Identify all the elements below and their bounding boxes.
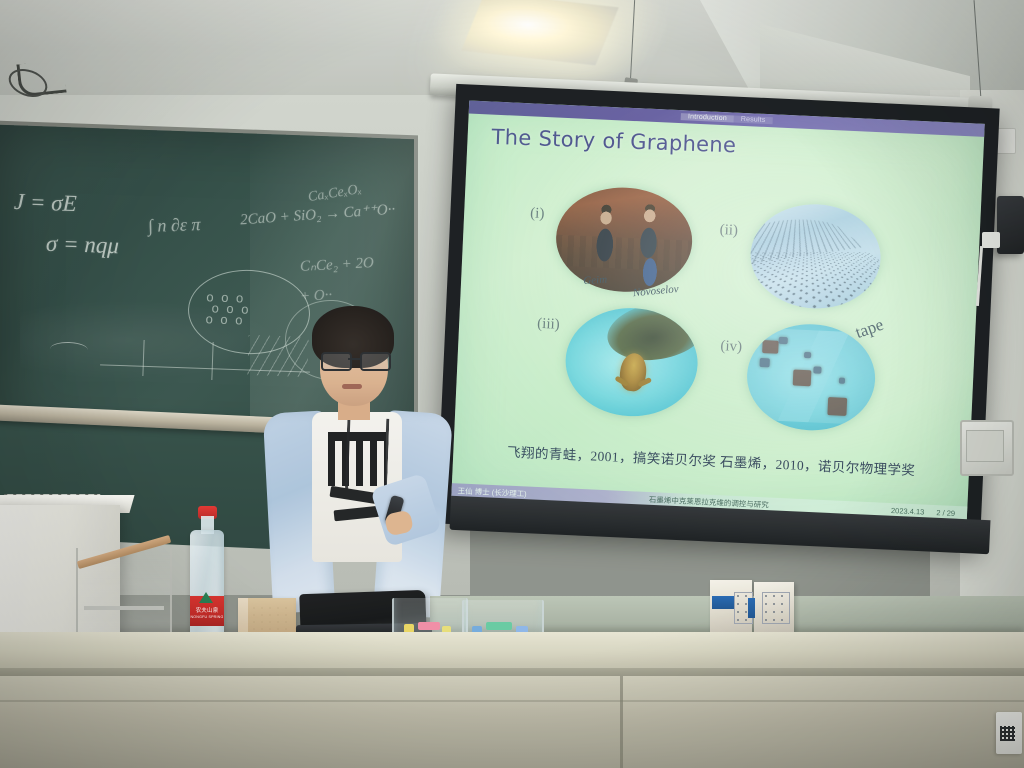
figure-number-iii: (iii): [537, 316, 560, 334]
bottle-label-text: 农夫山泉 NONGFU SPRING: [190, 608, 224, 620]
figure-graphene-lattice: [748, 201, 883, 311]
sample-chip: [418, 622, 440, 630]
figure-number-ii: (ii): [719, 222, 738, 240]
figure-number-i: (i): [530, 205, 545, 223]
label-geim: Geim: [583, 274, 607, 287]
slide-nav-tab-introduction[interactable]: Introduction: [681, 113, 734, 122]
sample-box-grid-2: [762, 592, 790, 624]
bench-body: [0, 676, 1024, 768]
graphite-flake: [760, 358, 770, 367]
bottle-brand-cn: 农夫山泉: [196, 608, 219, 614]
slide-caption: 飞翔的青蛙，2001，搞笑诺贝尔奖 石墨烯，2010，诺贝尔物理学奖: [453, 438, 969, 481]
label-tape: tape: [853, 315, 886, 343]
sample-box-spine: [748, 598, 755, 618]
glasses-icon: [320, 352, 390, 367]
chalk-equation-6: CₙCe₂ + 2O: [300, 253, 375, 276]
lecture-hall-photo: J = σE σ = nqμ ∫ n ∂ε π 2CaO + SiO₂ → Ca…: [0, 0, 1024, 768]
sample-chip: [486, 622, 512, 630]
two-scientists: [554, 185, 695, 295]
graphite-flake: [813, 366, 821, 373]
bench-seam-horizontal: [0, 700, 1024, 702]
chalk-dust: [20, 300, 280, 380]
bottle-brand-en: NONGFU SPRING: [191, 615, 224, 619]
bench-seam: [620, 676, 623, 768]
magnet-bore-shadow: [603, 305, 700, 367]
wall-speaker-icon: [997, 196, 1024, 254]
slide-nav-tab-results[interactable]: Results: [734, 116, 773, 125]
projected-slide: Introduction Results The Story of Graphe…: [451, 101, 985, 522]
mouth: [342, 384, 362, 389]
graphite-flake: [779, 337, 788, 344]
figure-levitating-frog: [563, 305, 700, 419]
glasses-bridge: [348, 358, 360, 360]
graphite-flake: [827, 397, 847, 416]
mountain-logo-icon: [199, 592, 213, 603]
power-plug: [982, 232, 1000, 248]
figure-number-iv: (iv): [720, 338, 742, 356]
figure-geim-novoselov-photo: [554, 185, 695, 295]
rack-shelf: [84, 606, 164, 610]
graphite-flake: [762, 340, 779, 354]
slide-title: The Story of Graphene: [491, 125, 736, 158]
wall-control-panel-inset: [966, 430, 1004, 462]
lens-left: [321, 352, 352, 371]
chalk-equation-3: ∫ n ∂ε π: [148, 214, 201, 237]
graphite-flake: [804, 352, 811, 358]
lens-right: [360, 352, 391, 371]
graphite-flake: [839, 378, 845, 384]
chalk-equation-2: σ = nqμ: [46, 231, 120, 260]
sample-box-label-1: [712, 596, 734, 609]
graphite-flake: [793, 369, 812, 386]
qr-code-icon: [1000, 726, 1015, 741]
chalk-equation-1: J = σE: [14, 189, 77, 217]
